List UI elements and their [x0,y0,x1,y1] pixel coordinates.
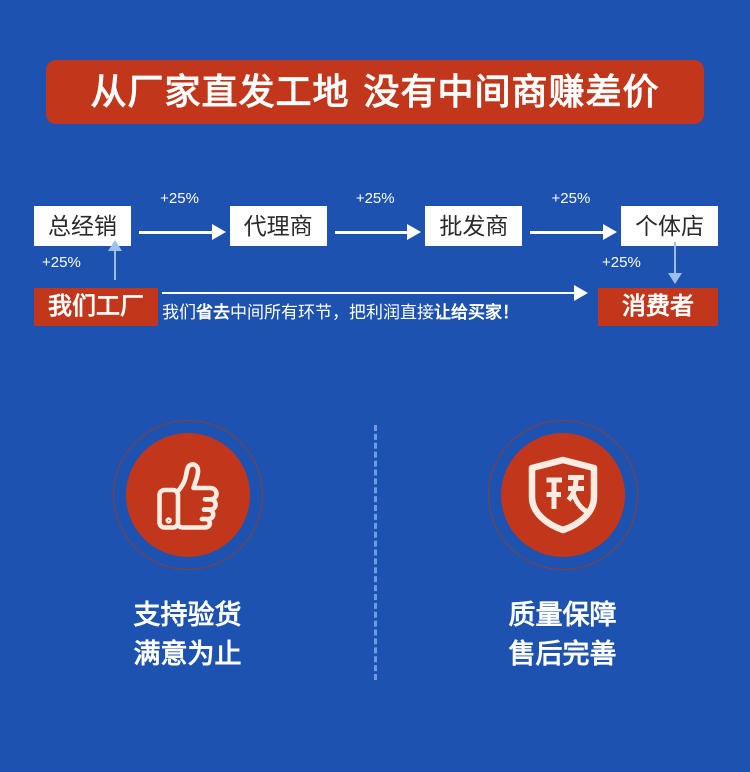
markup-label-down: +25% [602,255,641,270]
feature-icon-disc [126,433,250,557]
direct-arrow-head-icon [574,285,588,301]
factory-node-label: 我们工厂 [48,295,144,319]
thumbs-up-icon [148,455,228,535]
chain-arrow-2: +25% [327,206,426,246]
feature-icon-ring [113,420,263,570]
arrow-head-icon [407,224,421,240]
direct-message-pre: 我们 [162,303,196,322]
shop-to-consumer-arrow-line [674,242,676,276]
feature-icon-disc [501,433,625,557]
chain-node-wholesaler: 批发商 [425,206,522,246]
distribution-flow-diagram: 总经销 +25% 代理商 +25% 批发商 +25% 个体店 +25% [0,180,750,360]
arrow-head-icon [603,224,617,240]
chain-node-label: 总经销 [48,215,117,238]
chain-node-agent: 代理商 [230,206,327,246]
markup-label-up: +25% [42,255,81,270]
chain-node-label: 批发商 [439,215,508,238]
chain-arrow-3: +25% [522,206,621,246]
feature-quality: 质量保障 售后完善 [375,420,750,700]
markup-label-1: +25% [160,191,199,206]
feature-icon-ring [488,420,638,570]
feature-caption: 质量保障 售后完善 [509,596,617,674]
arrow-line [139,231,214,234]
features-section: 支持验货 满意为止 [0,420,750,700]
markup-label-2: +25% [356,191,395,206]
chain-node-label: 代理商 [244,215,313,238]
chain-arrow-1: +25% [131,206,230,246]
feature-caption-line-1: 支持验货 [134,596,242,635]
consumer-node-label: 消费者 [622,295,694,319]
arrow-line [335,231,410,234]
headline-text: 从厂家直发工地没有中间商赚差价 [90,74,659,110]
chain-node-retail-shop: 个体店 [621,206,718,246]
arrow-head-icon [212,224,226,240]
arrow-line [530,231,605,234]
feature-caption: 支持验货 满意为止 [134,596,242,674]
markup-label-3: +25% [551,191,590,206]
headline-banner-wrap: 从厂家直发工地没有中间商赚差价 [0,60,750,124]
headline-part-2: 没有中间商赚差价 [364,71,660,112]
feature-caption-line-1: 质量保障 [509,596,617,635]
consumer-node: 消费者 [598,288,718,326]
factory-node: 我们工厂 [34,288,158,326]
feature-caption-line-2: 满意为止 [134,635,242,674]
headline-part-1: 从厂家直发工地 [90,71,349,112]
quality-shield-icon [521,453,605,537]
direct-message-bold-1: 省去 [196,303,230,322]
feature-caption-line-2: 售后完善 [509,635,617,674]
headline-banner: 从厂家直发工地没有中间商赚差价 [46,60,704,124]
direct-message-mid: 中间所有环节，把利润直接 [230,303,434,322]
arrow-up-head-icon [108,240,122,251]
chain-node-label: 个体店 [635,215,704,238]
direct-message: 我们省去中间所有环节，把利润直接让给买家！ [162,302,519,325]
direct-message-bold-2: 让给买家！ [434,303,519,322]
direct-arrow-line [162,292,576,294]
arrow-down-head-icon [668,273,682,284]
middleman-chain-row: 总经销 +25% 代理商 +25% 批发商 +25% 个体店 [34,206,718,246]
feature-inspection: 支持验货 满意为止 [0,420,375,700]
